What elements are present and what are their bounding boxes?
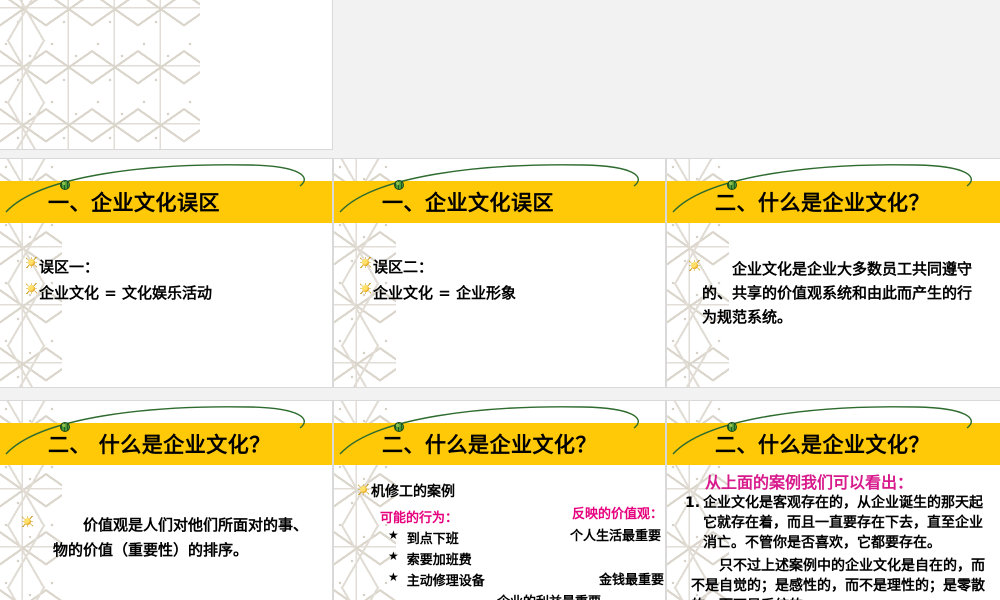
bullet-text: 企业文化 = 企业形象 — [373, 280, 516, 306]
gold-sunburst-bullet-icon — [26, 283, 37, 294]
green-globe-icon — [60, 422, 70, 432]
decorative-twig-pattern — [0, 0, 200, 149]
bullet-item: 机修工的案例 — [358, 481, 455, 501]
slide-title: 二、 什么是企业文化？ — [48, 429, 271, 459]
slide-thumbnail-3[interactable]: 二、什么是企业文化？ 企业文化是企业大多数员工共同遵守的、共享的价值观系统和由此… — [666, 158, 1000, 388]
slide-body: 企业文化是企业大多数员工共同遵守的、共享的价值观系统和由此而产生的行为规范系统。 — [689, 257, 986, 329]
green-globe-icon — [60, 180, 70, 190]
bullet-text: 误区一： — [39, 254, 99, 280]
slide-title: 二、什么是企业文化？ — [715, 429, 930, 459]
list-item: ★ 主动修理设备 — [388, 571, 485, 592]
black-star-bullet-icon: ★ — [388, 571, 399, 583]
bullet-text: 误区二： — [373, 254, 433, 280]
gold-sunburst-bullet-icon — [360, 257, 371, 268]
slide-thumbnail-4[interactable]: 二、 什么是企业文化？ 价值观是人们对他们所面对的事、物的价值（重要性）的排序。 — [0, 400, 333, 600]
slide-thumbnail-5[interactable]: 二、什么是企业文化？ 机修工的案例 可能的行为： ★ 到点下班 ★ 索要加班费 … — [333, 400, 666, 600]
green-globe-icon — [727, 422, 737, 432]
list-number: 1. — [685, 493, 700, 553]
value-item: 企业的利益最重要 — [497, 591, 601, 600]
gold-sunburst-bullet-icon — [360, 283, 371, 294]
case-heading: 机修工的案例 — [371, 481, 455, 501]
slide-title: 二、什么是企业文化？ — [715, 187, 930, 217]
gold-sunburst-bullet-icon — [689, 260, 700, 271]
bullet-item: 企业文化是企业大多数员工共同遵守的、共享的价值观系统和由此而产生的行为规范系统。 — [689, 257, 986, 329]
green-globe-icon — [394, 180, 404, 190]
list-item-label: 主动修理设备 — [407, 571, 485, 592]
bullet-item: 企业文化 = 文化娱乐活动 — [26, 280, 320, 306]
slide-thumbnail-1[interactable]: 一、企业文化误区 误区一： 企业文化 = 文化娱乐活动 — [0, 158, 333, 388]
conclusion-paragraph: 只不过上述案例中的企业文化是自在的，而不是自觉的；是感性的，而不是理性的；是零散… — [691, 556, 992, 600]
values-column-header: 反映的价值观： — [572, 503, 663, 522]
slide-body: 误区二： 企业文化 = 企业形象 — [360, 254, 653, 306]
slide-body: 价值观是人们对他们所面对的事、物的价值（重要性）的排序。 — [22, 513, 322, 563]
value-item: 金钱最重要 — [599, 569, 664, 588]
value-item: 个人生活最重要 — [570, 525, 661, 544]
slide-thumbnail-grid: 一、企业文化误区 误区一： 企业文化 = 文化娱乐活动 一、企业文化误区 误区二… — [0, 0, 1000, 600]
slide-thumbnail-6[interactable]: 二、什么是企业文化？ 从上面的案例我们可以看出： 1. 企业文化是客观存在的，从… — [666, 400, 1000, 600]
bullet-text: 企业文化 = 文化娱乐活动 — [39, 280, 212, 306]
black-star-bullet-icon: ★ — [388, 529, 399, 541]
case-heading-row: 机修工的案例 — [358, 481, 455, 501]
gold-sunburst-bullet-icon — [26, 257, 37, 268]
list-item: ★ 到点下班 — [388, 529, 485, 550]
slide-title: 一、企业文化误区 — [48, 187, 220, 217]
conclusion-heading: 从上面的案例我们可以看出： — [705, 469, 913, 493]
green-globe-icon — [394, 422, 404, 432]
slide-body: 误区一： 企业文化 = 文化娱乐活动 — [26, 254, 320, 306]
gold-sunburst-bullet-icon — [22, 516, 33, 527]
bullet-text: 价值观是人们对他们所面对的事、物的价值（重要性）的排序。 — [53, 513, 322, 563]
slide-thumbnail-2[interactable]: 一、企业文化误区 误区二： 企业文化 = 企业形象 — [333, 158, 666, 388]
black-star-bullet-icon: ★ — [388, 550, 399, 562]
green-globe-icon — [727, 180, 737, 190]
bullet-text: 企业文化是企业大多数员工共同遵守的、共享的价值观系统和由此而产生的行为规范系统。 — [702, 257, 986, 329]
list-text: 企业文化是客观存在的，从企业诞生的那天起它就存在着，而且一直要存在下去，直至企业… — [703, 493, 992, 553]
behaviors-column-header: 可能的行为： — [380, 507, 458, 526]
list-item-label: 索要加班费 — [407, 550, 472, 571]
slide-title: 一、企业文化误区 — [382, 187, 554, 217]
bullet-item: 误区一： — [26, 254, 320, 280]
bullet-item: 价值观是人们对他们所面对的事、物的价值（重要性）的排序。 — [22, 513, 322, 563]
conclusion-numbered-item: 1. 企业文化是客观存在的，从企业诞生的那天起它就存在着，而且一直要存在下去，直… — [685, 493, 992, 553]
slide-title: 二、什么是企业文化？ — [382, 429, 597, 459]
bullet-item: 误区二： — [360, 254, 653, 280]
gold-sunburst-bullet-icon — [358, 484, 369, 495]
list-item-label: 到点下班 — [407, 529, 459, 550]
behaviors-list: ★ 到点下班 ★ 索要加班费 ★ 主动修理设备 — [388, 529, 485, 592]
list-item: ★ 索要加班费 — [388, 550, 485, 571]
bullet-item: 企业文化 = 企业形象 — [360, 280, 653, 306]
slide-thumbnail-partial-top[interactable] — [0, 0, 333, 150]
